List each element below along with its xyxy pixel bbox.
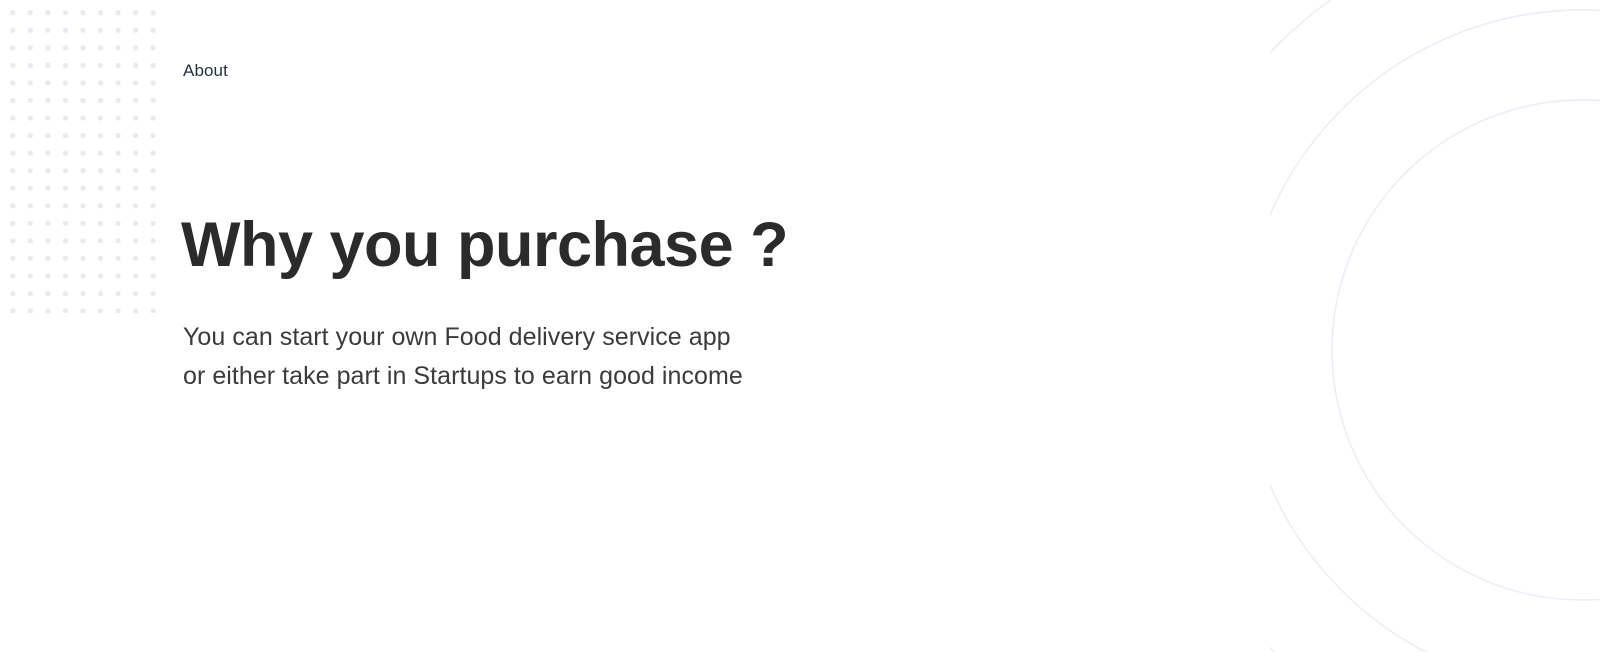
ring-outer (1270, 0, 1600, 652)
about-section: About Why you purchase ? You can start y… (0, 0, 1600, 652)
concentric-rings-svg (1270, 0, 1600, 652)
ring-middle (1270, 10, 1600, 652)
section-description: You can start your own Food delivery ser… (183, 318, 743, 396)
description-line-1: You can start your own Food delivery ser… (183, 318, 743, 357)
ring-inner (1332, 100, 1600, 600)
page-title: Why you purchase ? (181, 206, 788, 284)
concentric-rings (1270, 0, 1600, 652)
section-eyebrow-label: About (183, 58, 228, 84)
dot-grid-pattern (0, 0, 162, 313)
description-line-2: or either take part in Startups to earn … (183, 357, 743, 396)
